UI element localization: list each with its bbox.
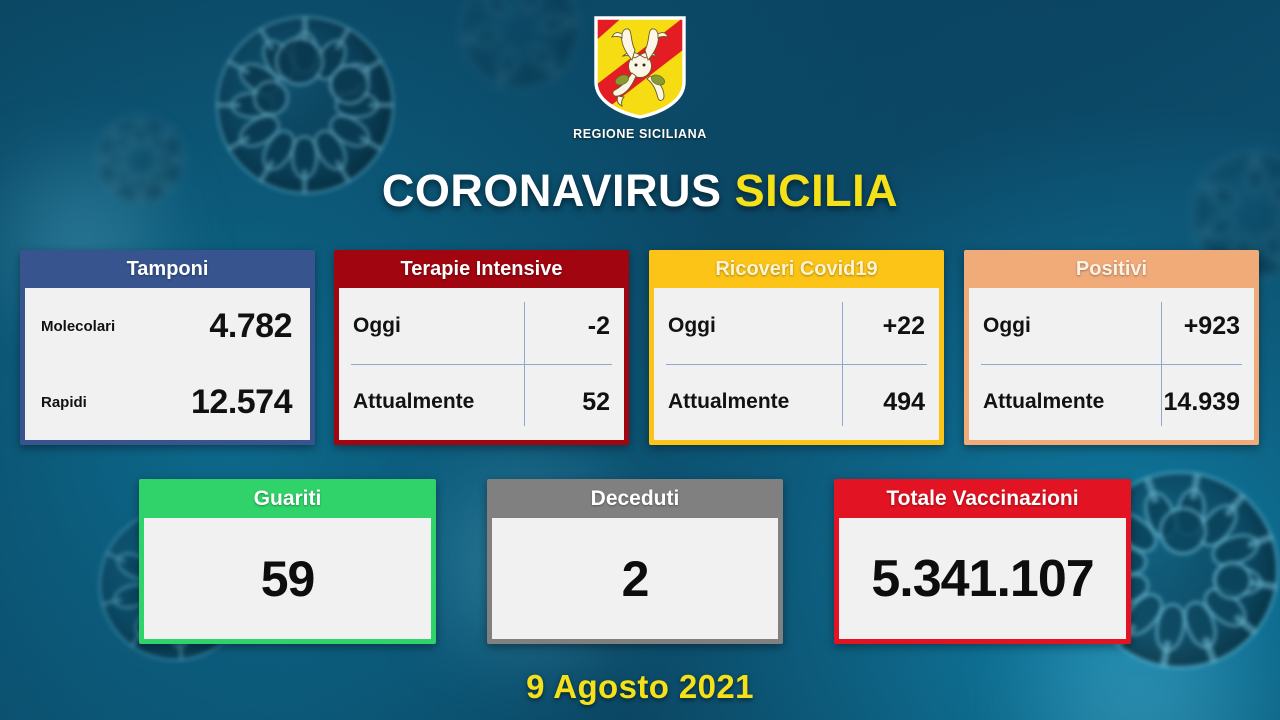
stat-value-guariti: 59	[144, 518, 431, 639]
card-title-guariti: Guariti	[139, 479, 436, 518]
stat-label-rapidi: Rapidi	[41, 394, 191, 411]
card-body-deceduti: 2	[492, 518, 778, 639]
stat-value-rapidi: 12.574	[191, 383, 292, 422]
sicilian-trinacria-emblem-icon	[592, 14, 688, 120]
stat-row: Molecolari 4.782	[25, 288, 310, 364]
card-title-terapie-intensive: Terapie Intensive	[334, 250, 629, 288]
stat-card-deceduti: Deceduti 2	[487, 479, 783, 644]
stat-value-oggi: -2	[588, 312, 610, 341]
stat-label-molecolari: Molecolari	[41, 318, 209, 335]
card-title-totale-vaccinazioni: Totale Vaccinazioni	[834, 479, 1131, 518]
stat-row: Attualmente 52	[339, 364, 624, 440]
stat-label-attualmente: Attualmente	[353, 390, 582, 414]
page-title: CORONAVIRUS SICILIA	[0, 168, 1280, 213]
stat-row: Oggi +22	[654, 288, 939, 364]
stat-value-oggi: +923	[1184, 312, 1240, 341]
title-coronavirus: CORONAVIRUS	[382, 165, 722, 216]
card-title-tamponi: Tamponi	[20, 250, 315, 288]
stat-card-terapie-intensive: Terapie Intensive Oggi -2 Attualmente 52	[334, 250, 629, 445]
stat-label-attualmente: Attualmente	[668, 390, 883, 414]
card-title-ricoveri-covid19: Ricoveri Covid19	[649, 250, 944, 288]
stat-row: Oggi -2	[339, 288, 624, 364]
stat-row: Attualmente 14.939	[969, 364, 1254, 440]
report-date: 9 Agosto 2021	[0, 668, 1280, 706]
stat-value-attualmente: 14.939	[1164, 388, 1240, 417]
stat-label-oggi: Oggi	[983, 314, 1184, 338]
stat-value-oggi: +22	[883, 312, 925, 341]
stat-card-totale-vaccinazioni: Totale Vaccinazioni 5.341.107	[834, 479, 1131, 644]
stat-value-attualmente: 494	[883, 388, 925, 417]
card-title-positivi: Positivi	[964, 250, 1259, 288]
title-sicilia: SICILIA	[735, 165, 899, 216]
stat-row: Attualmente 494	[654, 364, 939, 440]
stat-card-positivi: Positivi Oggi +923 Attualmente 14.939	[964, 250, 1259, 445]
card-body-ricoveri-covid19: Oggi +22 Attualmente 494	[654, 288, 939, 440]
stat-card-tamponi: Tamponi Molecolari 4.782 Rapidi 12.574	[20, 250, 315, 445]
stat-label-attualmente: Attualmente	[983, 390, 1164, 414]
card-body-tamponi: Molecolari 4.782 Rapidi 12.574	[25, 288, 310, 440]
stat-value-totale-vaccinazioni: 5.341.107	[839, 518, 1126, 639]
stat-value-deceduti: 2	[492, 518, 778, 639]
card-body-totale-vaccinazioni: 5.341.107	[839, 518, 1126, 639]
card-body-positivi: Oggi +923 Attualmente 14.939	[969, 288, 1254, 440]
card-body-guariti: 59	[144, 518, 431, 639]
region-emblem-block: REGIONE SICILIANA	[0, 14, 1280, 141]
stat-row: Oggi +923	[969, 288, 1254, 364]
card-title-deceduti: Deceduti	[487, 479, 783, 518]
stat-value-molecolari: 4.782	[209, 307, 292, 346]
region-label: REGIONE SICILIANA	[573, 127, 707, 141]
stat-card-guariti: Guariti 59	[139, 479, 436, 644]
stat-row: Rapidi 12.574	[25, 364, 310, 440]
stat-label-oggi: Oggi	[353, 314, 588, 338]
stat-label-oggi: Oggi	[668, 314, 883, 338]
stat-card-ricoveri-covid19: Ricoveri Covid19 Oggi +22 Attualmente 49…	[649, 250, 944, 445]
card-body-terapie-intensive: Oggi -2 Attualmente 52	[339, 288, 624, 440]
infographic-canvas: REGIONE SICILIANA CORONAVIRUS SICILIA Ta…	[0, 0, 1280, 720]
stat-value-attualmente: 52	[582, 388, 610, 417]
